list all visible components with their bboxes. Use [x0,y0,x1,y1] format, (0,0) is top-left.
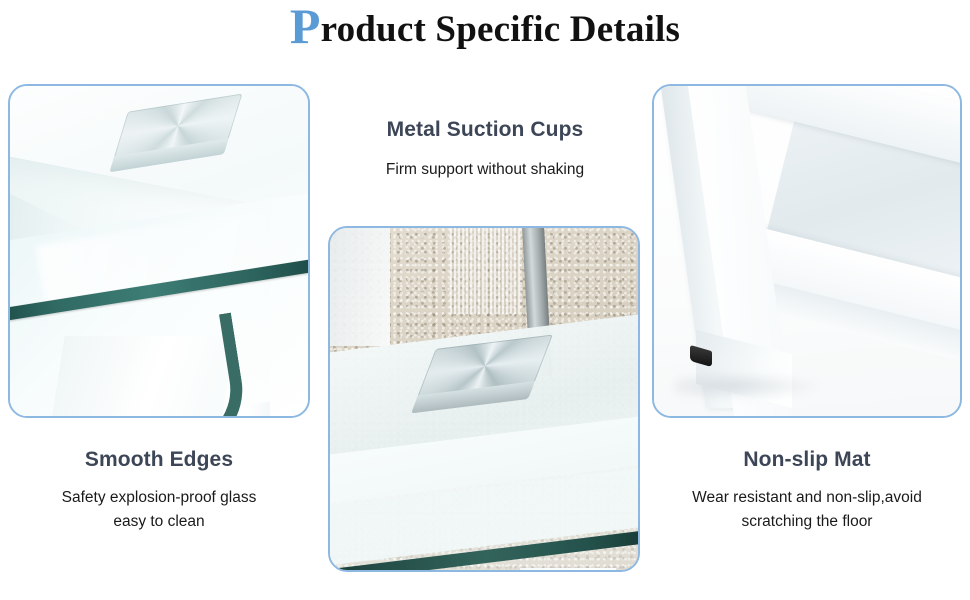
caption-body: Firm support without shaking [340,158,630,182]
photo-frame-non-slip-mat [652,84,962,418]
caption-heading: Metal Suction Cups [340,118,630,142]
page-title-text: roduct Specific Details [321,9,680,50]
page-title-dropcap: P [290,0,321,54]
background-blinds [450,228,520,314]
photo-frame-smooth-edges [8,84,310,418]
caption-body-line-1: Wear resistant and non-slip,avoid [692,489,922,506]
caption-body-line-2: scratching the floor [742,513,873,530]
caption-body: Wear resistant and non-slip,avoid scratc… [652,486,962,534]
caption-smooth-edges: Smooth Edges Safety explosion-proof glas… [8,448,310,534]
caption-body: Safety explosion-proof glass easy to cle… [8,486,310,534]
caption-heading: Non-slip Mat [652,448,962,472]
background-white-panel [330,228,390,346]
photo-non-slip-mat [654,86,960,416]
caption-non-slip-mat: Non-slip Mat Wear resistant and non-slip… [652,448,962,534]
caption-metal-suction-cups: Metal Suction Cups Firm support without … [340,118,630,182]
photo-frame-center-suction-cup [328,226,640,572]
caption-body-line-1: Safety explosion-proof glass [62,489,257,506]
floor-shadow [674,372,824,400]
caption-body-line-2: easy to clean [113,513,204,530]
photo-smooth-edges [10,86,308,416]
caption-heading: Smooth Edges [8,448,310,472]
page-title: Product Specific Details [0,8,970,51]
photo-center-suction-cup [330,228,638,570]
